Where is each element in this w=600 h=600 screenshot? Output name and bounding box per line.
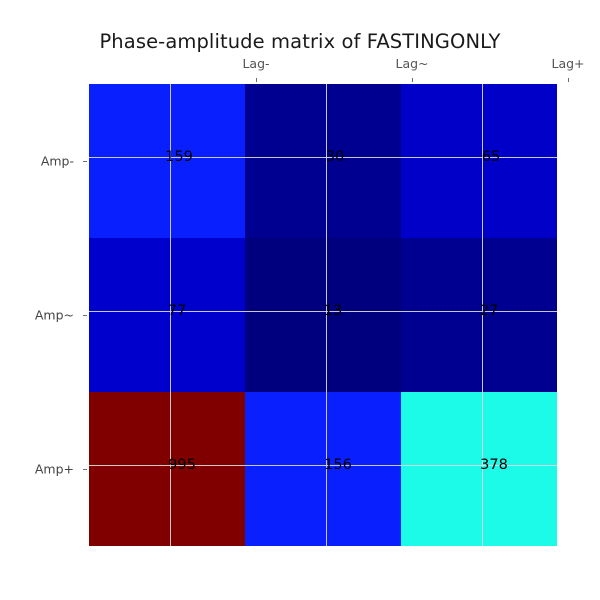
heatmap-cell[interactable] [401,392,557,546]
heatmap-cell[interactable] [89,392,245,546]
heatmap-cell[interactable] [245,238,401,392]
xtick-mark-lag-plus [568,78,569,82]
heatmap-cell[interactable] [401,238,557,392]
xtick-mark-lag-minus [256,78,257,82]
page-title: Phase-amplitude matrix of FASTINGONLY [0,30,600,53]
ytick-label-amp-minus: Amp- [41,154,74,169]
ytick-mark-amp-plus [83,469,87,470]
xtick-label-lag-plus: Lag+ [551,56,584,71]
ytick-label-amp-plus: Amp+ [35,462,74,477]
heatmap-cell[interactable] [89,238,245,392]
heatmap-cell[interactable] [89,84,245,238]
heatmap-cell[interactable] [245,84,401,238]
heatmap-cell[interactable] [245,392,401,546]
xtick-label-lag-minus: Lag- [242,56,269,71]
heatmap-grid [89,84,557,546]
xtick-label-lag-mid: Lag~ [395,56,428,71]
heatmap-cell[interactable] [401,84,557,238]
plot-area: 159 30 65 77 13 27 995 156 378 [89,84,557,546]
ytick-mark-amp-mid [83,315,87,316]
heatmap-figure: Phase-amplitude matrix of FASTINGONLY La… [0,0,600,600]
xtick-mark-lag-mid [412,78,413,82]
ytick-label-amp-mid: Amp~ [35,308,74,323]
ytick-mark-amp-minus [83,161,87,162]
